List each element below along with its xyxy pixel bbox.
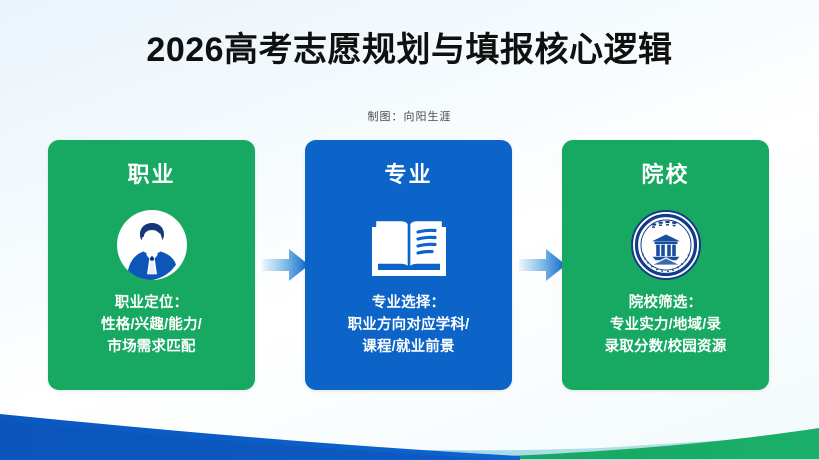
page-subtitle-credit: 制图：向阳生涯	[0, 108, 819, 124]
card-school[interactable]: 院校	[562, 140, 769, 390]
card-career-body-line-2: 性格/兴趣/能力/	[54, 314, 249, 336]
page-title: 2026高考志愿规划与填报核心逻辑	[0, 22, 819, 71]
slide-canvas: 2026高考志愿规划与填报核心逻辑 制图：向阳生涯 职业 职业定位： 性格/兴趣…	[0, 0, 819, 460]
bottom-wave-decoration	[0, 390, 819, 460]
card-school-body-line-3: 录取分数/校园资源	[568, 336, 763, 358]
card-school-title: 院校	[562, 157, 769, 189]
card-major-body-line-1: 专业选择：	[311, 292, 506, 314]
flow-arrow-career-to-major	[262, 247, 309, 283]
card-major[interactable]: 专业 专业选择： 职业方向对应学科/ 课程/就业前景	[305, 140, 512, 390]
card-career-body-line-3: 市场需求匹配	[54, 336, 249, 358]
flow-arrow-major-to-school	[519, 247, 566, 283]
businessman-avatar-icon	[48, 202, 255, 288]
card-major-body-line-3: 课程/就业前景	[311, 336, 506, 358]
open-book-icon	[305, 202, 512, 288]
university-crest-icon	[562, 202, 769, 288]
card-career[interactable]: 职业 职业定位： 性格/兴趣/能力/ 市场需求匹配	[48, 140, 255, 390]
card-major-title: 专业	[305, 157, 512, 189]
card-school-body-line-2: 专业实力/地域/录	[568, 314, 763, 336]
card-career-body-line-1: 职业定位：	[54, 292, 249, 314]
card-career-body: 职业定位： 性格/兴趣/能力/ 市场需求匹配	[54, 292, 249, 358]
card-major-body: 专业选择： 职业方向对应学科/ 课程/就业前景	[311, 292, 506, 358]
card-school-body: 院校筛选： 专业实力/地域/录 录取分数/校园资源	[568, 292, 763, 358]
card-school-body-line-1: 院校筛选：	[568, 292, 763, 314]
card-major-body-line-2: 职业方向对应学科/	[311, 314, 506, 336]
card-career-title: 职业	[48, 157, 255, 189]
